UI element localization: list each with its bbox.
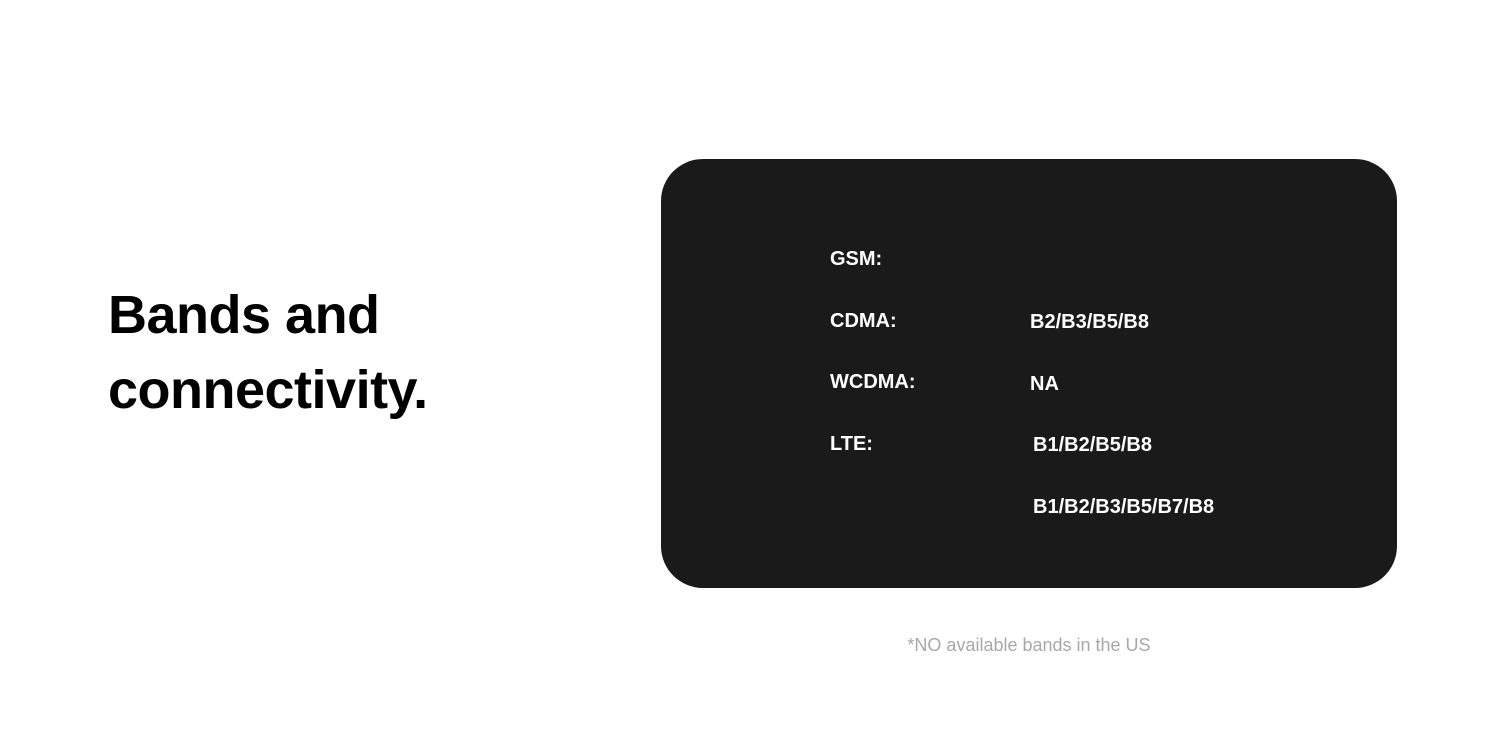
page-title-line-2: connectivity.: [108, 353, 628, 428]
bands-spec-list: GSM: B2/B3/B5/B8 CDMA: NA WCDMA: B1/B2/B…: [830, 245, 1377, 678]
spec-value-lte-line-2: /B20/34/38/39/40/41: [1033, 585, 1214, 616]
spec-row-cdma: CDMA: NA: [830, 307, 1377, 369]
spec-row-gsm: GSM: B2/B3/B5/B8: [830, 245, 1377, 307]
spec-label-cdma: CDMA:: [830, 307, 1030, 335]
spec-label-wcdma: WCDMA:: [830, 368, 1030, 396]
spec-value-lte-line-1: B1/B2/B3/B5/B7/B8: [1033, 492, 1214, 523]
spec-label-gsm: GSM:: [830, 245, 1030, 273]
spec-row-wcdma: WCDMA: B1/B2/B5/B8: [830, 368, 1377, 430]
page-title-line-1: Bands and: [108, 278, 628, 353]
page-title: Bands and connectivity.: [108, 278, 628, 428]
bands-spec-card: GSM: B2/B3/B5/B8 CDMA: NA WCDMA: B1/B2/B…: [661, 159, 1397, 588]
footnote-text: *NO available bands in the US: [661, 633, 1397, 657]
spec-label-lte: LTE:: [830, 430, 1030, 458]
